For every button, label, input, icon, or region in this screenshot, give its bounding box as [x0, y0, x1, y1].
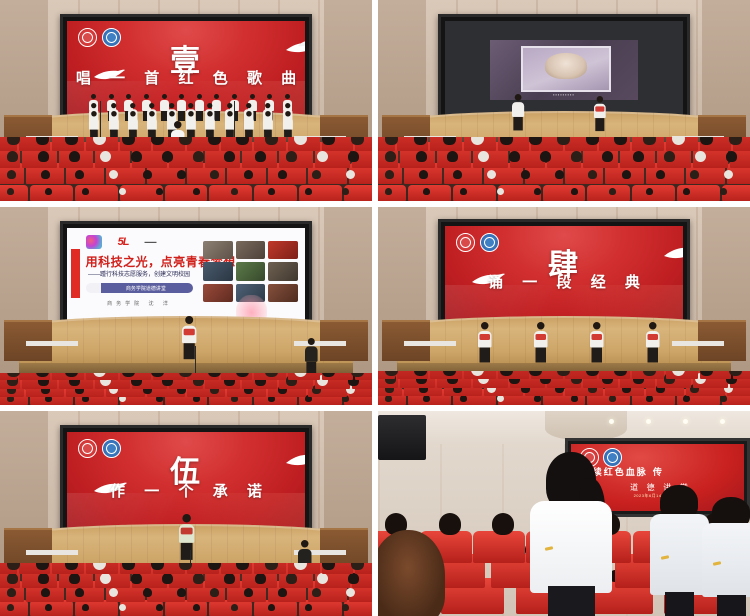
audience-head	[509, 151, 520, 162]
audience-head	[268, 188, 275, 195]
audience-head	[143, 588, 152, 597]
ppt-photo-tile	[203, 241, 233, 259]
audience-head	[278, 170, 287, 179]
ppt-banner-label: 商务学院道德讲堂	[126, 285, 166, 292]
brand-text-icon: ▬▬▬	[144, 239, 156, 244]
audience-head	[156, 188, 163, 195]
audience-head	[416, 151, 427, 162]
audience-head	[131, 151, 142, 162]
choir-member	[195, 94, 204, 121]
photo-panel-1[interactable]: 壹 唱 一 首 红 色 歌 曲	[0, 0, 372, 201]
audience-head	[208, 563, 221, 570]
led-screen: ▪▪▪▪▪▪▪▪▪	[445, 21, 684, 118]
audience-head	[36, 137, 49, 145]
dark-slide: ▪▪▪▪▪▪▪▪▪	[445, 21, 684, 118]
audience-head	[179, 563, 192, 570]
audience-head	[143, 170, 152, 179]
audience-head	[162, 151, 173, 162]
audience-head	[385, 170, 394, 179]
seat	[254, 185, 297, 201]
video-photo	[521, 46, 611, 92]
stage-front-edge	[19, 363, 354, 373]
video-frame: ▪▪▪▪▪▪▪▪▪	[490, 40, 638, 100]
audience-head	[487, 170, 496, 179]
audience-head	[156, 604, 163, 611]
ceiling-light-icon	[646, 419, 651, 424]
audience-seating-4	[378, 371, 750, 405]
audience-head	[460, 188, 467, 195]
choir-member	[177, 94, 186, 121]
audience-head	[224, 151, 235, 162]
photo-panel-2[interactable]: ▪▪▪▪▪▪▪▪▪	[378, 0, 750, 201]
audience-head	[609, 188, 616, 195]
photo-panel-5[interactable]: 伍 作 一 个 承 诺	[0, 411, 372, 616]
audience-head	[724, 170, 733, 179]
ceiling-duct	[545, 411, 627, 440]
audience-seating-1	[0, 137, 372, 201]
audience-head	[38, 151, 49, 162]
audience-head	[65, 563, 78, 570]
wall-speaker	[378, 415, 426, 460]
audience-head	[65, 137, 78, 145]
student-standing	[650, 485, 710, 616]
photo-panel-4[interactable]: 肆 诵 一 段 经 典	[378, 207, 750, 405]
photo-grid: 壹 唱 一 首 红 色 歌 曲	[0, 0, 750, 610]
photo-panel-3[interactable]: 5L ▬▬▬ 用科技之光，点亮青春梦想 ——踵行科技志愿服务，创建文明校园 商务…	[0, 207, 372, 405]
ppt-photo-tile	[236, 262, 266, 280]
audience-head	[348, 151, 359, 162]
audience-head	[423, 188, 430, 195]
audience-head	[656, 170, 665, 179]
led-screen-frame: ▪▪▪▪▪▪▪▪▪	[438, 14, 691, 125]
audience-head	[286, 151, 297, 162]
audience-head	[7, 170, 16, 179]
audience-head	[529, 137, 542, 145]
rail-left	[26, 550, 78, 555]
audience-head	[664, 151, 675, 162]
audience-head	[69, 151, 80, 162]
audience-head	[265, 137, 278, 145]
audience-head	[36, 563, 49, 570]
audience-head	[41, 170, 50, 179]
ppt-photo-tile	[236, 241, 266, 259]
audience-head	[122, 137, 135, 145]
audience-head	[439, 513, 461, 535]
seat	[254, 600, 297, 616]
auditorium-scene-2: ▪▪▪▪▪▪▪▪▪	[378, 0, 750, 201]
rail-left	[26, 341, 78, 346]
audience-head	[255, 151, 266, 162]
audience-head	[75, 170, 84, 179]
seat	[165, 185, 208, 201]
ppt-logo-row: 5L ▬▬▬	[86, 235, 157, 249]
audience-head	[726, 151, 737, 162]
audience-head	[346, 170, 355, 179]
audience-head	[45, 188, 52, 195]
seat	[0, 185, 28, 201]
audience-head	[588, 170, 597, 179]
seat-row	[0, 600, 372, 616]
audience-head	[534, 188, 541, 195]
seat	[632, 185, 675, 201]
foreground-head	[378, 530, 445, 616]
seat	[543, 185, 586, 201]
audience-head	[265, 563, 278, 570]
reciter	[590, 322, 604, 363]
audience-head	[643, 137, 656, 145]
audience-head	[305, 188, 312, 195]
student-distributing	[527, 452, 616, 616]
audience-head	[231, 188, 238, 195]
auditorium-scene-3: 5L ▬▬▬ 用科技之光，点亮青春梦想 ——踵行科技志愿服务，创建文明校园 商务…	[0, 207, 372, 405]
student-standing	[702, 497, 750, 616]
audience-head	[45, 604, 52, 611]
audience-head	[586, 137, 599, 145]
audience-head	[385, 151, 396, 162]
ppt-photo-tile	[268, 262, 298, 280]
audience-head	[500, 137, 513, 145]
audience-head	[453, 170, 462, 179]
audience-head	[109, 170, 118, 179]
audience-head	[690, 170, 699, 179]
ppt-photo-tile	[268, 241, 298, 259]
audience-head	[540, 151, 551, 162]
reciter	[478, 322, 492, 363]
audience-head	[342, 188, 349, 195]
seat	[378, 185, 406, 201]
audience-seating-3	[0, 373, 372, 405]
led-screen-frame: 5L ▬▬▬ 用科技之光，点亮青春梦想 ——踵行科技志愿服务，创建文明校园 商务…	[60, 221, 313, 330]
pledge-speaker	[179, 514, 194, 560]
auditorium-scene-5: 伍 作 一 个 承 诺	[0, 411, 372, 616]
audience-head	[492, 513, 514, 535]
ppt-banner: 商务学院道德讲堂	[86, 283, 194, 293]
audience-head	[447, 151, 458, 162]
org-logo-icon	[86, 235, 102, 249]
audience-head	[268, 604, 275, 611]
audience-head	[529, 371, 542, 375]
ceiling-light-icon	[609, 419, 614, 424]
audience-head	[351, 137, 364, 145]
ppt-footer: 商务学院 沈 洋	[107, 300, 172, 307]
ppt-photo-tile	[268, 284, 298, 302]
audience-head	[312, 588, 321, 597]
auditorium-scene-4: 肆 诵 一 段 经 典	[378, 207, 750, 405]
audience-head	[683, 188, 690, 195]
audience-head	[346, 588, 355, 597]
audience-head	[177, 170, 186, 179]
ppt-accent-bar	[71, 249, 79, 298]
audience-seating-5	[0, 563, 372, 616]
candid-scene-6: 赓续红色血脉 传 道 德 讲 堂 2023年6月14日	[378, 411, 750, 616]
audience-head	[151, 137, 164, 145]
seat-row	[0, 185, 372, 201]
audience-head	[633, 151, 644, 162]
audience-head	[278, 588, 287, 597]
brand-logo-icon: 5L	[118, 236, 129, 248]
audience-head	[122, 563, 135, 570]
audience-head	[151, 563, 164, 570]
audience-head	[75, 588, 84, 597]
ppt-photo-tile	[203, 262, 233, 280]
camera-operator	[305, 338, 318, 376]
audience-head	[322, 563, 335, 570]
audience-head	[312, 170, 321, 179]
audience-head	[443, 371, 456, 375]
presenter	[594, 96, 606, 131]
seat	[473, 531, 525, 563]
presenter	[512, 94, 524, 130]
seat	[165, 600, 208, 616]
audience-head	[82, 604, 89, 611]
ppt-photo-collage	[203, 241, 299, 302]
audience-head	[210, 170, 219, 179]
audience-head	[82, 188, 89, 195]
audience-head	[305, 604, 312, 611]
reciter	[534, 322, 548, 363]
audience-head	[7, 151, 18, 162]
audience-head	[646, 188, 653, 195]
audience-head	[419, 170, 428, 179]
audience-head	[622, 170, 631, 179]
ppt-photo-tile	[203, 284, 233, 302]
photo-panel-6[interactable]: 赓续红色血脉 传 道 德 讲 堂 2023年6月14日	[378, 411, 750, 616]
ppt-subtitle: ——踵行科技志愿服务，创建文明校园	[88, 269, 190, 278]
audience-head	[729, 137, 742, 145]
seat-row	[378, 185, 750, 201]
audience-head	[351, 563, 364, 570]
audience-head	[208, 137, 221, 145]
audience-head	[177, 588, 186, 597]
ppt-slide: 5L ▬▬▬ 用科技之光，点亮青春梦想 ——踵行科技志愿服务，创建文明校园 商务…	[67, 228, 306, 323]
auditorium-scene-1: 壹 唱 一 首 红 色 歌 曲	[0, 0, 372, 201]
audience-head	[443, 137, 456, 145]
audience-head	[571, 151, 582, 162]
audience-head	[244, 588, 253, 597]
led-screen: 5L ▬▬▬ 用科技之光，点亮青春梦想 ——踵行科技志愿服务，创建文明校园 商务…	[67, 228, 306, 323]
child-portrait	[545, 53, 586, 79]
audience-head	[720, 188, 727, 195]
audience-head	[555, 170, 564, 179]
audience-head	[193, 151, 204, 162]
rail-right	[294, 341, 346, 346]
audience-head	[231, 604, 238, 611]
slide-subtitle: 作 一 个 承 诺	[67, 480, 306, 501]
audience-seating-2	[378, 137, 750, 201]
audience-head	[244, 170, 253, 179]
audience-head	[602, 151, 613, 162]
audience-head	[414, 137, 427, 145]
reciter	[646, 322, 660, 363]
audience-head	[342, 604, 349, 611]
audience-head	[521, 170, 530, 179]
